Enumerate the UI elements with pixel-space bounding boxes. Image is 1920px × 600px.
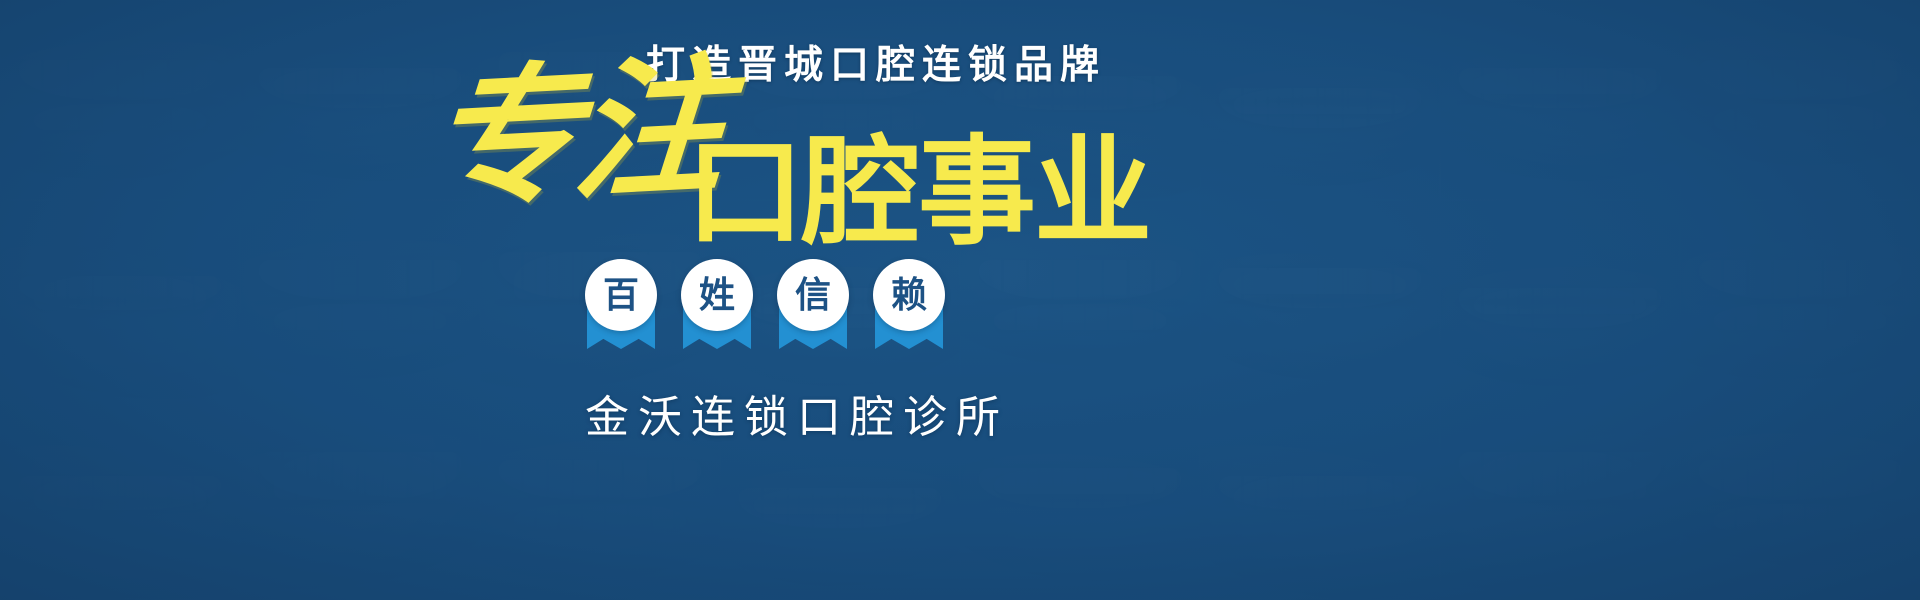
trust-badge-row: 百姓信赖 [585, 259, 945, 331]
badge-disc: 百 [585, 259, 657, 331]
trust-badge: 百 [585, 259, 657, 331]
badge-disc: 赖 [873, 259, 945, 331]
trust-badge: 赖 [873, 259, 945, 331]
banner-headline: 专注 口腔事业 [424, 48, 1184, 248]
badge-label: 百 [603, 277, 639, 313]
headline-brush-text: 专注 [424, 51, 724, 216]
trust-badge: 姓 [681, 259, 753, 331]
clinic-name: 金沃连锁口腔诊所 [585, 396, 1009, 440]
trust-badge: 信 [777, 259, 849, 331]
badge-disc: 姓 [681, 259, 753, 331]
headline-solid-text: 口腔事业 [686, 134, 1150, 252]
dental-clinic-banner: 打造晋城口腔连锁品牌 专注 口腔事业 百姓信赖 金沃连锁口腔诊所 [0, 0, 1920, 600]
badge-label: 姓 [699, 277, 735, 313]
badge-disc: 信 [777, 259, 849, 331]
banner-content: 打造晋城口腔连锁品牌 专注 口腔事业 百姓信赖 金沃连锁口腔诊所 [0, 0, 1920, 600]
badge-label: 赖 [891, 277, 927, 313]
badge-label: 信 [795, 277, 831, 313]
